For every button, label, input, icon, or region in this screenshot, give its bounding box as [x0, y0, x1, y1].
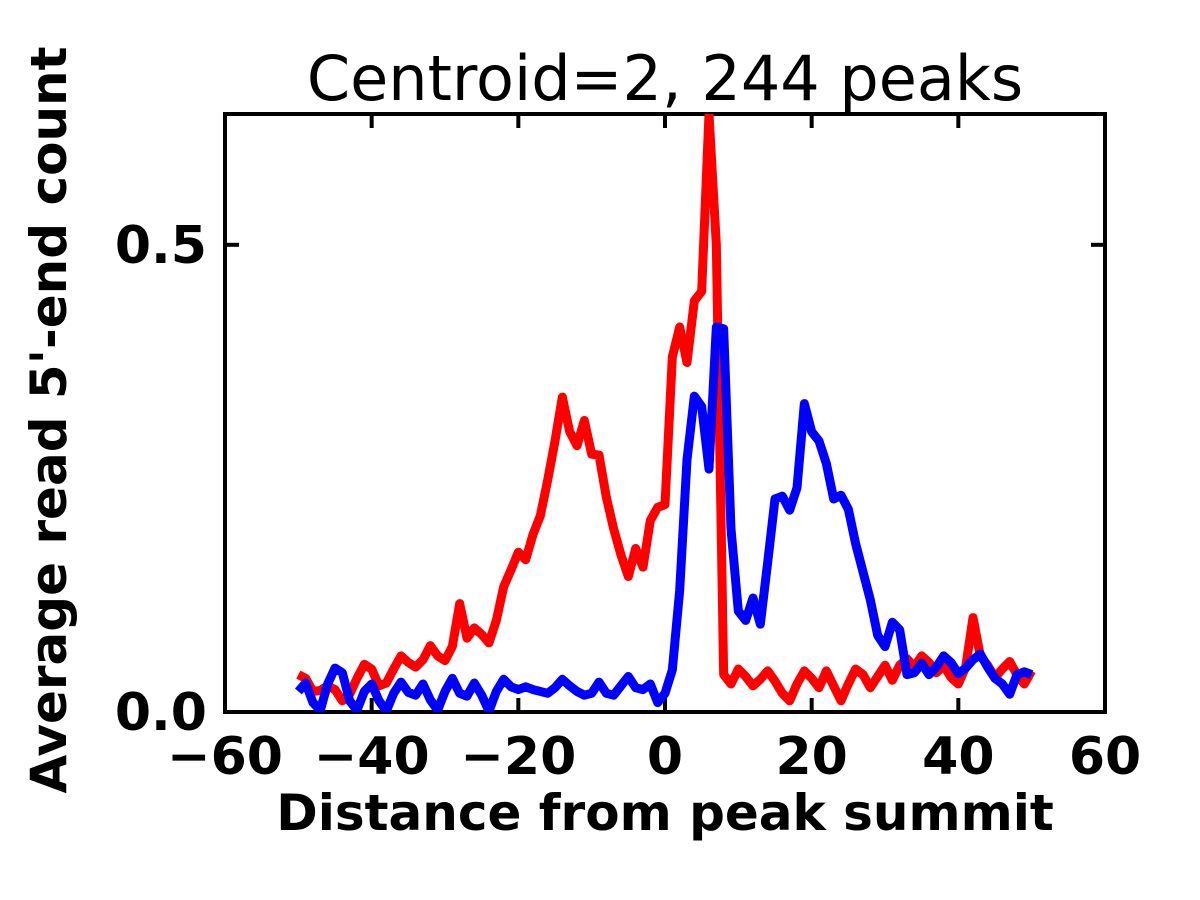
x-ticklabel-3: 0 — [647, 727, 683, 787]
page-title: Centroid=2, 244 peaks — [307, 42, 1023, 115]
x-axis-label: Distance from peak summit — [276, 784, 1054, 842]
y-ticklabel-1: 0.5 — [115, 216, 207, 276]
x-ticklabel-5: 40 — [922, 727, 994, 787]
chart-canvas: −60−40−2002040600.00.5 Centroid=2, 244 p… — [0, 0, 1200, 900]
y-axis-label: Average read 5'-end count — [20, 46, 78, 793]
figure-container: −60−40−2002040600.00.5 Centroid=2, 244 p… — [0, 0, 1200, 900]
x-ticklabel-2: −20 — [460, 727, 576, 787]
y-ticklabel-0: 0.0 — [115, 683, 207, 743]
x-ticklabel-6: 60 — [1069, 727, 1141, 787]
x-ticklabel-1: −40 — [314, 727, 430, 787]
x-ticklabel-4: 20 — [775, 727, 847, 787]
